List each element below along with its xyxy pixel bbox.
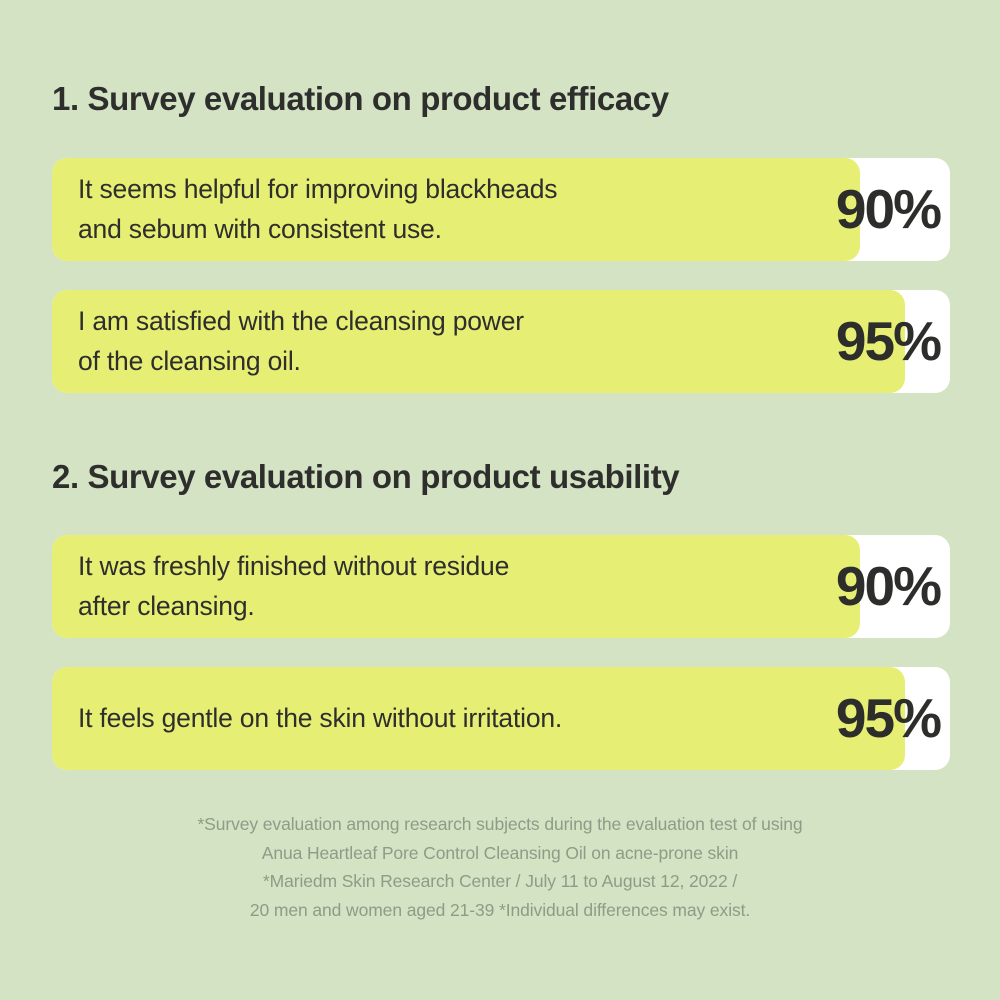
bar-label-line-2: after cleansing. <box>78 591 255 621</box>
survey-bar-row: It was freshly finished without residue … <box>52 535 950 638</box>
bar-label: It feels gentle on the skin without irri… <box>52 699 562 738</box>
bar-content: It was freshly finished without residue … <box>52 535 950 638</box>
footnote: *Survey evaluation among research subjec… <box>0 810 1000 924</box>
survey-bar-row: I am satisfied with the cleansing power … <box>52 290 950 393</box>
bar-label: It was freshly finished without residue … <box>52 547 509 625</box>
bar-label-line-1: It feels gentle on the skin without irri… <box>78 703 562 733</box>
footnote-line-4: 20 men and women aged 21-39 *Individual … <box>0 896 1000 925</box>
bar-label-line-1: It was freshly finished without residue <box>78 551 509 581</box>
bar-percent-value: 95% <box>836 314 950 369</box>
bar-label-line-1: It seems helpful for improving blackhead… <box>78 174 557 204</box>
bar-content: It feels gentle on the skin without irri… <box>52 667 950 770</box>
section-heading-efficacy: 1. Survey evaluation on product efficacy <box>52 82 669 115</box>
footnote-line-3: *Mariedm Skin Research Center / July 11 … <box>0 867 1000 896</box>
survey-bar-row: It feels gentle on the skin without irri… <box>52 667 950 770</box>
footnote-line-1: *Survey evaluation among research subjec… <box>0 810 1000 839</box>
bar-content: It seems helpful for improving blackhead… <box>52 158 950 261</box>
bar-percent-value: 90% <box>836 182 950 237</box>
bar-label: I am satisfied with the cleansing power … <box>52 302 524 380</box>
footnote-line-2: Anua Heartleaf Pore Control Cleansing Oi… <box>0 839 1000 868</box>
bar-label-line-2: and sebum with consistent use. <box>78 214 442 244</box>
bar-label-line-1: I am satisfied with the cleansing power <box>78 306 524 336</box>
bar-label-line-2: of the cleansing oil. <box>78 346 301 376</box>
section-heading-usability: 2. Survey evaluation on product usabilit… <box>52 460 679 493</box>
bar-label: It seems helpful for improving blackhead… <box>52 170 557 248</box>
bar-content: I am satisfied with the cleansing power … <box>52 290 950 393</box>
bar-percent-value: 90% <box>836 559 950 614</box>
survey-results-infographic: 1. Survey evaluation on product efficacy… <box>0 0 1000 1000</box>
survey-bar-row: It seems helpful for improving blackhead… <box>52 158 950 261</box>
bar-percent-value: 95% <box>836 691 950 746</box>
